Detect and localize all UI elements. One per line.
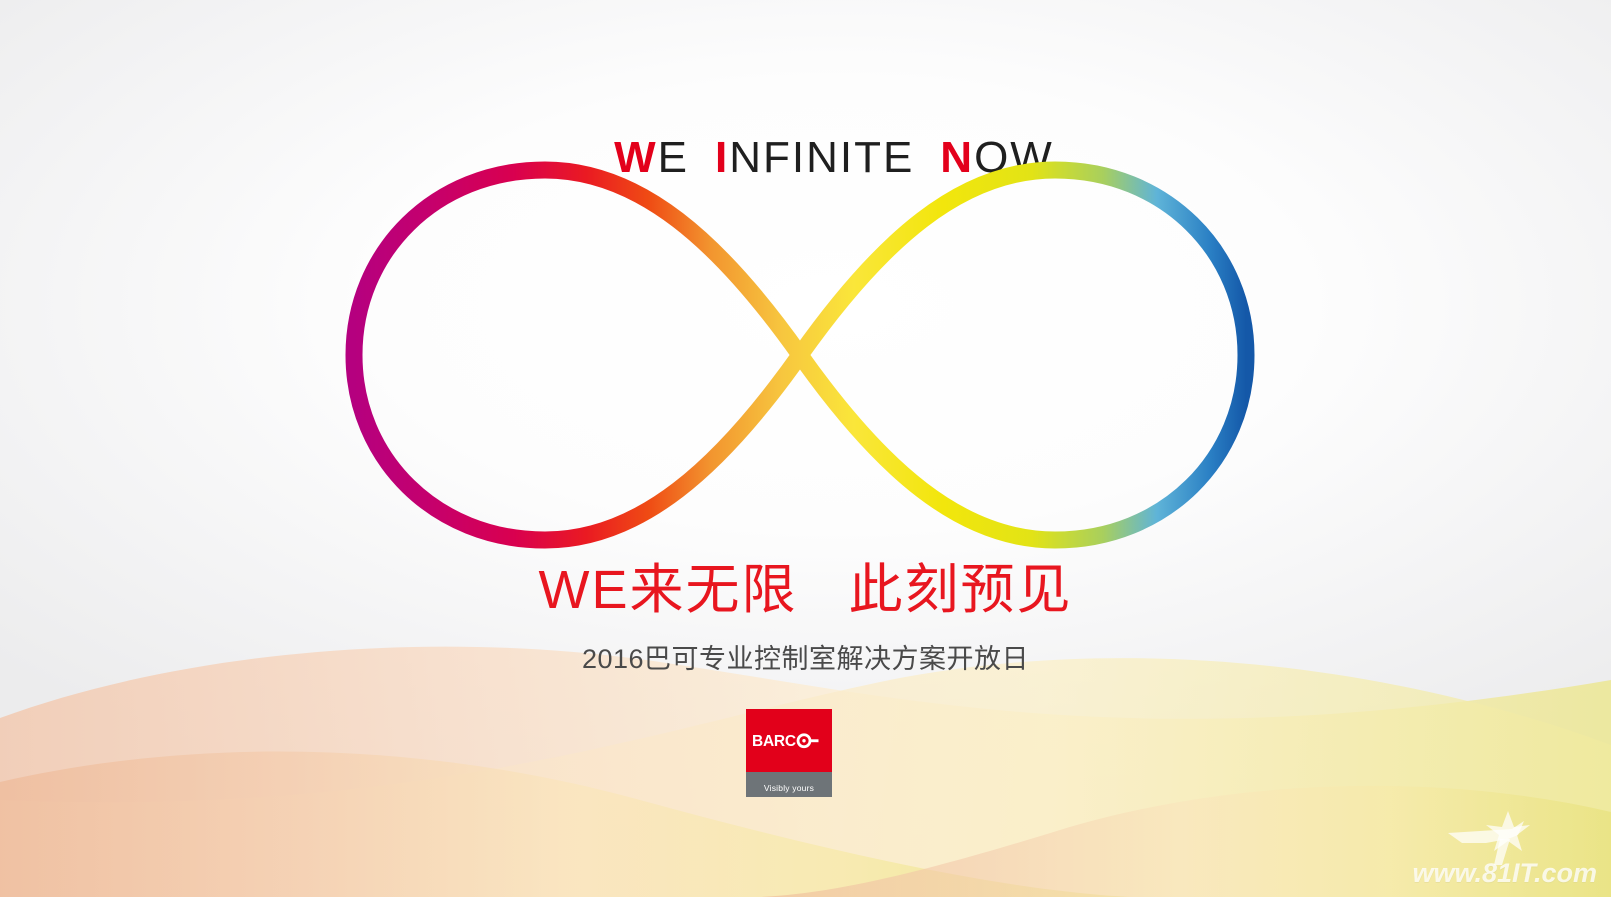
- logo-gray-panel: Visibly yours: [746, 772, 832, 797]
- barco-logo: BARC Visibly yours: [746, 709, 832, 797]
- subtitle-event: 2016巴可专业控制室解决方案开放日: [0, 646, 1611, 673]
- logo-tagline: Visibly yours: [764, 783, 814, 797]
- infinity-symbol: [340, 150, 1260, 560]
- tagline-chinese: WE来无限 此刻预见: [0, 563, 1611, 617]
- logo-wordmark: BARC: [746, 709, 832, 772]
- slide-canvas: WEINFINITENOW: [0, 0, 1611, 897]
- svg-text:BARC: BARC: [752, 733, 796, 750]
